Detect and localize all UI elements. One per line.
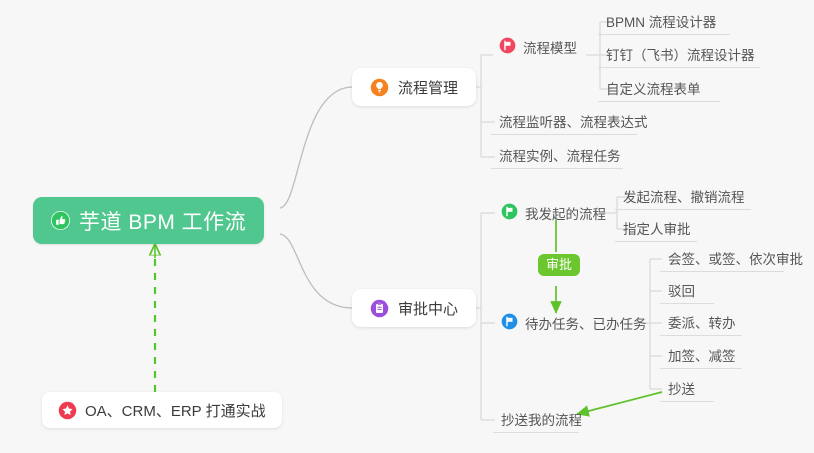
floating-node-label: OA、CRM、ERP 打通实战: [85, 400, 266, 421]
leaf-add-remove-sign[interactable]: 加签、减签: [660, 343, 742, 369]
lightbulb-icon: [370, 78, 389, 97]
flag-icon: [501, 313, 518, 330]
branch-label-approval-center: 审批中心: [398, 298, 458, 319]
leaf-cc[interactable]: 抄送: [660, 376, 714, 402]
leaf-cc-to-me-processes[interactable]: 抄送我的流程: [493, 407, 579, 433]
star-icon: [58, 401, 77, 420]
floating-node-integration[interactable]: OA、CRM、ERP 打通实战: [42, 392, 282, 428]
node-label-process-model: 流程模型: [523, 42, 577, 56]
leaf-label-dingtalk-designer: 钉钉（飞书）流程设计器: [606, 49, 755, 63]
root-node[interactable]: 芋道 BPM 工作流: [33, 197, 264, 244]
node-process-model[interactable]: 流程模型: [491, 34, 585, 60]
leaf-label-cc-to-me-processes: 抄送我的流程: [501, 414, 582, 428]
leaf-label-start-cancel-process: 发起流程、撤销流程: [623, 191, 745, 205]
leaf-dingtalk-designer[interactable]: 钉钉（飞书）流程设计器: [598, 42, 760, 68]
leaf-label-cc: 抄送: [668, 383, 695, 397]
wire-tag-approval: 审批: [538, 254, 580, 276]
node-label-todo-done-tasks: 待办任务、已办任务: [525, 318, 647, 332]
leaf-label-custom-form: 自定义流程表单: [606, 83, 701, 97]
mindmap-canvas: 芋道 BPM 工作流 流程管理 流程模型 BPMN 流程设计器 钉钉（飞书: [0, 0, 814, 453]
branch-node-approval-center[interactable]: 审批中心: [352, 289, 476, 327]
flag-icon: [499, 37, 516, 54]
root-label: 芋道 BPM 工作流: [79, 206, 246, 236]
flag-icon: [501, 203, 518, 220]
leaf-bpmn-designer[interactable]: BPMN 流程设计器: [598, 9, 730, 35]
leaf-label-process-listener: 流程监听器、流程表达式: [499, 116, 648, 130]
leaf-delegate-transfer[interactable]: 委派、转办: [660, 310, 742, 336]
branch-node-process-management[interactable]: 流程管理: [352, 68, 476, 106]
leaf-label-assignee-approval: 指定人审批: [623, 223, 691, 237]
leaf-start-cancel-process[interactable]: 发起流程、撤销流程: [615, 184, 751, 210]
thumbs-up-icon: [51, 211, 70, 230]
leaf-label-process-instance: 流程实例、流程任务: [499, 150, 621, 164]
leaf-label-add-remove-sign: 加签、减签: [668, 350, 736, 364]
leaf-custom-form[interactable]: 自定义流程表单: [598, 76, 720, 102]
leaf-label-bpmn-designer: BPMN 流程设计器: [606, 16, 716, 30]
leaf-countersign[interactable]: 会签、或签、依次审批: [660, 246, 784, 272]
branch-label-process-management: 流程管理: [398, 77, 458, 98]
node-label-my-initiated-processes: 我发起的流程: [525, 208, 606, 222]
leaf-process-listener[interactable]: 流程监听器、流程表达式: [491, 109, 637, 135]
node-my-initiated-processes[interactable]: 我发起的流程: [493, 200, 614, 226]
leaf-assignee-approval[interactable]: 指定人审批: [615, 216, 697, 242]
leaf-process-instance[interactable]: 流程实例、流程任务: [491, 143, 623, 169]
leaf-label-countersign: 会签、或签、依次审批: [668, 253, 803, 267]
clipboard-icon: [370, 299, 389, 318]
leaf-label-reject: 驳回: [668, 285, 695, 299]
leaf-reject[interactable]: 驳回: [660, 278, 714, 304]
node-todo-done-tasks[interactable]: 待办任务、已办任务: [493, 310, 655, 336]
leaf-label-delegate-transfer: 委派、转办: [668, 317, 736, 331]
